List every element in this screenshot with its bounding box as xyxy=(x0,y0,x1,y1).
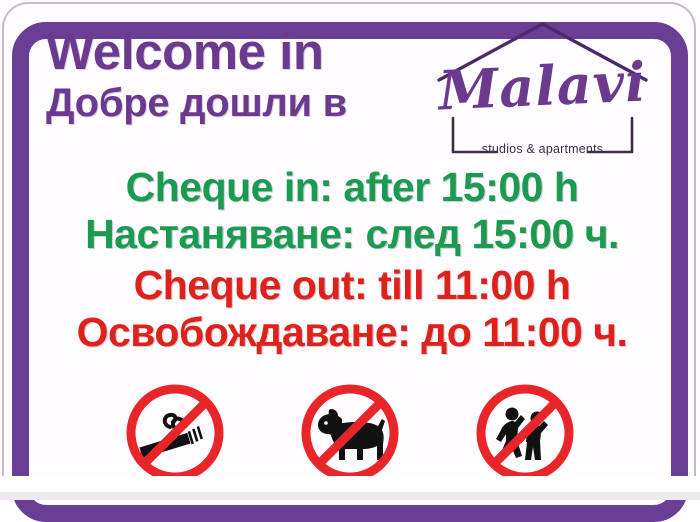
welcome-title-bg: Добре дошли в xyxy=(46,80,347,126)
checkin-checkout-info: Cheque in: after 15:00 h Настаняване: сл… xyxy=(34,166,670,355)
logo-tagline: studios & apartments xyxy=(435,142,650,156)
welcome-text-block: Welcome in Добре дошли в xyxy=(46,18,347,126)
checkin-line-bg: Настаняване: след 15:00 ч. xyxy=(34,213,670,256)
checkout-line-bg: Освобождаване: до 11:00 ч. xyxy=(34,311,670,354)
welcome-title-en: Welcome in xyxy=(46,26,347,78)
welcome-sign: Welcome in Добре дошли в Malavi studios … xyxy=(0,0,700,500)
sign-bottom-edge xyxy=(0,476,700,500)
checkout-line-en: Cheque out: till 11:00 h xyxy=(34,264,670,307)
checkin-line-en: Cheque in: after 15:00 h xyxy=(34,166,670,209)
no-dogs-icon xyxy=(295,378,405,488)
sign-header: Welcome in Добре дошли в Malavi studios … xyxy=(46,18,658,168)
prohibition-icons-row xyxy=(120,378,580,488)
no-smoking-icon xyxy=(120,378,230,488)
logo-brand-name: Malavi xyxy=(434,49,652,122)
no-party-icon xyxy=(470,378,580,488)
malavi-logo: Malavi studios & apartments xyxy=(435,18,650,168)
